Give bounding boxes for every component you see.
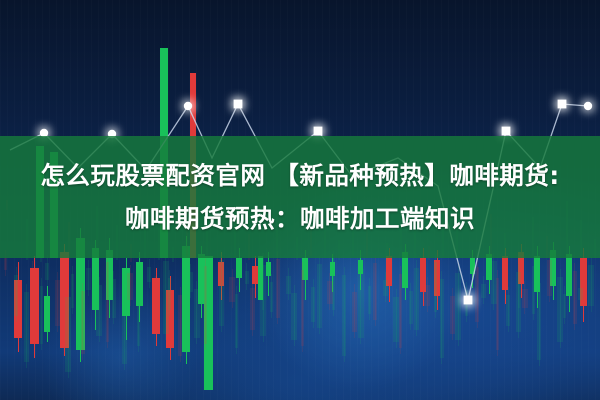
polyline-node-square xyxy=(234,100,243,109)
polyline-node-square xyxy=(314,127,323,136)
polyline-node-square xyxy=(558,100,567,109)
headline-band: 怎么玩股票配资官网 【新品种预热】咖啡期货: 咖啡期货预热：咖啡加工端知识 xyxy=(0,136,600,258)
polyline-node-circle xyxy=(584,102,592,110)
headline-line-2: 咖啡期货预热：咖啡加工端知识 xyxy=(125,198,475,239)
banner-image: 怎么玩股票配资官网 【新品种预热】咖啡期货: 咖啡期货预热：咖啡加工端知识 xyxy=(0,0,600,400)
polyline-node-square xyxy=(464,296,473,305)
headline-line-1: 怎么玩股票配资官网 【新品种预热】咖啡期货: xyxy=(40,155,559,196)
polyline-node-circle xyxy=(184,102,192,110)
polyline-node-square xyxy=(502,127,511,136)
